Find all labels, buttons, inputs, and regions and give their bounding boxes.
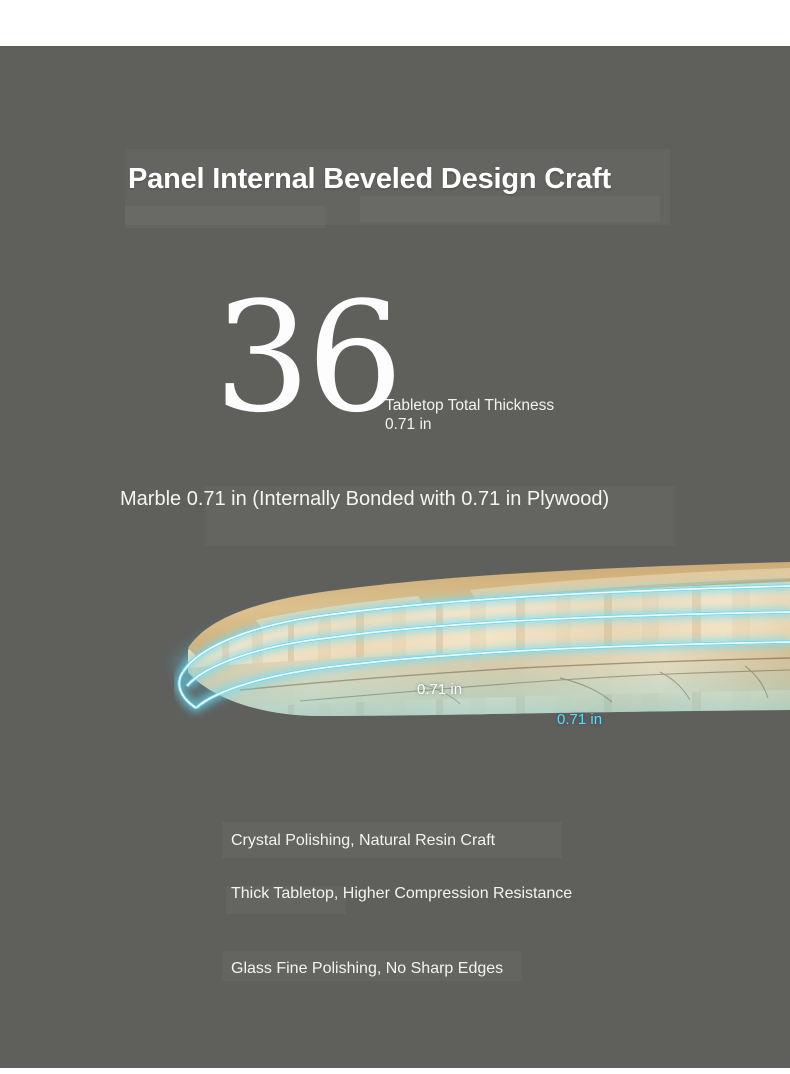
bottom-white-bar (0, 1068, 790, 1074)
tabletop-edge-illustration (0, 560, 790, 775)
dimension-label-top: 0.71 in (417, 681, 462, 698)
feature-item: Thick Tabletop, Higher Compression Resis… (231, 884, 591, 904)
product-detail-panel (0, 46, 790, 1068)
watermark-block (125, 206, 325, 228)
page-root: Panel Internal Beveled Design Craft 36 T… (0, 0, 790, 1074)
watermark-block (360, 196, 660, 222)
feature-item: Glass Fine Polishing, No Sharp Edges (231, 959, 591, 979)
thickness-caption: Tabletop Total Thickness 0.71 in (385, 396, 554, 434)
tabletop-edge-svg (0, 560, 790, 775)
thickness-caption-line1: Tabletop Total Thickness (385, 397, 554, 414)
dimension-label-bottom: 0.71 in (557, 711, 602, 728)
material-description: Marble 0.71 in (Internally Bonded with 0… (120, 487, 610, 512)
thickness-caption-line2: 0.71 in (385, 415, 554, 434)
top-white-bar (0, 0, 790, 46)
page-title: Panel Internal Beveled Design Craft (128, 163, 611, 196)
feature-item: Crystal Polishing, Natural Resin Craft (231, 831, 591, 851)
thickness-number: 36 (214, 282, 399, 434)
